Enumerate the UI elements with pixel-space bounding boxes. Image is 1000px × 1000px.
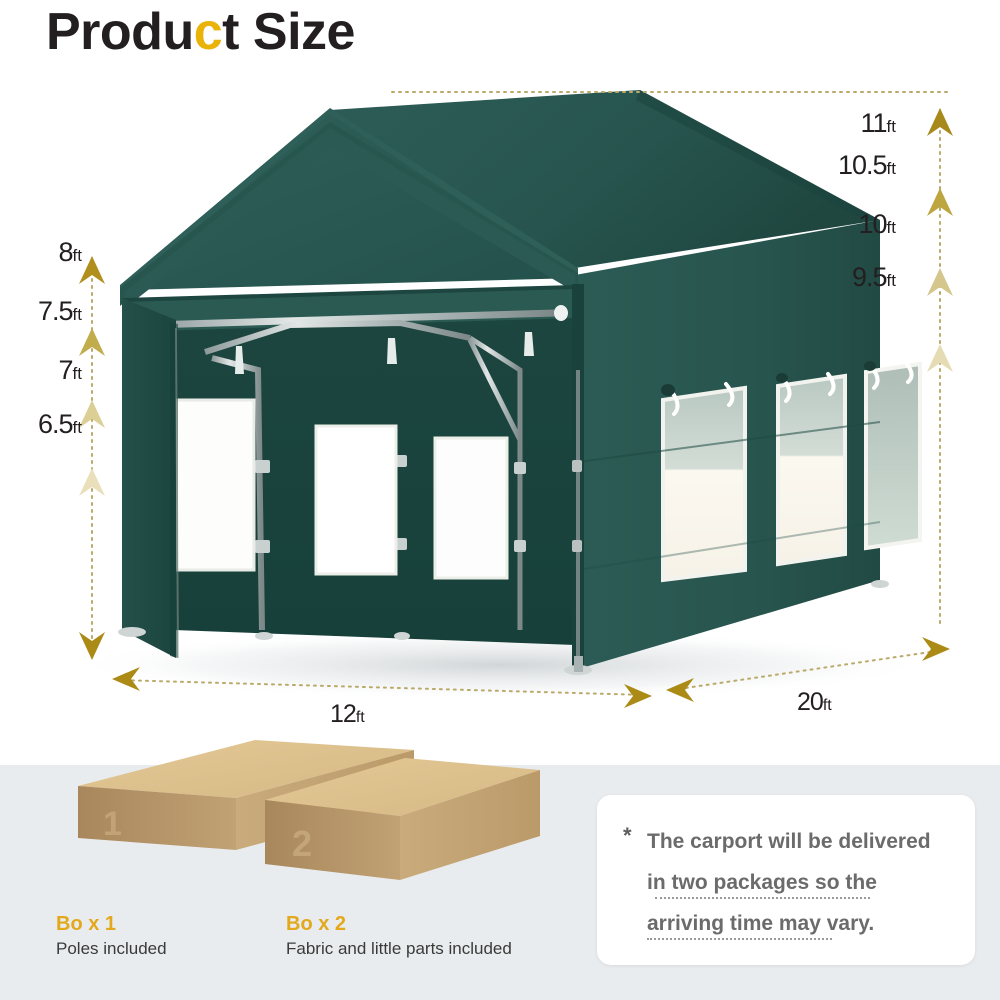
dim-left-8ft: 8ft (59, 237, 82, 268)
dim-left-7ft-unit: ft (73, 364, 82, 383)
dim-right-10-5ft-unit: ft (887, 159, 896, 178)
delivery-note-text: The carport will be delivered in two pac… (647, 821, 957, 944)
dim-right-10-5ft-value: 10.5 (838, 150, 887, 180)
dim-right-10ft-unit: ft (887, 218, 896, 237)
box-1-caption: Bo x 1 Poles included (56, 913, 167, 959)
dim-right-11ft-unit: ft (887, 117, 896, 136)
dim-front-width-value: 12 (330, 700, 356, 728)
box-1-label: Bo x 1 (56, 913, 167, 936)
dim-left-6-5ft-unit: ft (73, 418, 82, 437)
page-title: Product Size (46, 2, 355, 62)
page-title-part1: Produ (46, 3, 194, 61)
svg-text:2: 2 (292, 823, 312, 864)
dim-left-6-5ft-value: 6.5 (38, 409, 73, 439)
dim-left-8ft-unit: ft (73, 246, 82, 265)
dim-left-8ft-value: 8 (59, 237, 73, 267)
dim-left-7ft-value: 7 (59, 355, 73, 385)
dim-right-11ft-value: 11 (861, 108, 887, 138)
asterisk-icon: * (623, 821, 637, 847)
dim-side-length-unit: ft (823, 697, 832, 714)
dim-front-width: 12ft (330, 700, 365, 729)
delivery-note-line-1: The carport will be delivered (647, 821, 957, 862)
dim-right-10ft-value: 10 (859, 209, 887, 239)
dim-left-7-5ft-value: 7.5 (38, 296, 73, 326)
box-2-contents: Fabric and little parts included (286, 939, 512, 959)
svg-text:1: 1 (103, 805, 122, 843)
dim-right-10-5ft: 10.5ft (838, 150, 896, 181)
box-2-caption: Bo x 2 Fabric and little parts included (286, 913, 512, 959)
dim-left-6-5ft: 6.5ft (38, 409, 82, 440)
dim-right-9-5ft-value: 9.5 (852, 262, 887, 292)
box-2-label: Bo x 2 (286, 913, 512, 936)
dim-side-length-value: 20 (797, 688, 823, 716)
dim-front-width-unit: ft (356, 709, 365, 726)
page-title-highlight: c (194, 3, 222, 61)
dim-side-length: 20ft (797, 688, 832, 717)
delivery-note-card: * The carport will be delivered in two p… (597, 795, 975, 965)
box-1-contents: Poles included (56, 939, 167, 959)
dim-right-10ft: 10ft (859, 209, 897, 240)
page-title-part2: t Size (222, 3, 355, 61)
dim-left-7-5ft-unit: ft (73, 305, 82, 324)
product-size-infographic: Product Size (0, 0, 1000, 1000)
delivery-note-line-2: in two packages so the (647, 862, 957, 903)
dim-right-9-5ft-unit: ft (887, 271, 896, 290)
package-boxes-illustration: 1 2 (0, 740, 600, 940)
dim-right-9-5ft: 9.5ft (852, 262, 896, 293)
delivery-note-line-3: arriving time may vary. (647, 903, 957, 944)
dim-left-7-5ft: 7.5ft (38, 296, 82, 327)
dim-left-7ft: 7ft (59, 355, 82, 386)
dim-right-11ft: 11ft (861, 108, 896, 139)
